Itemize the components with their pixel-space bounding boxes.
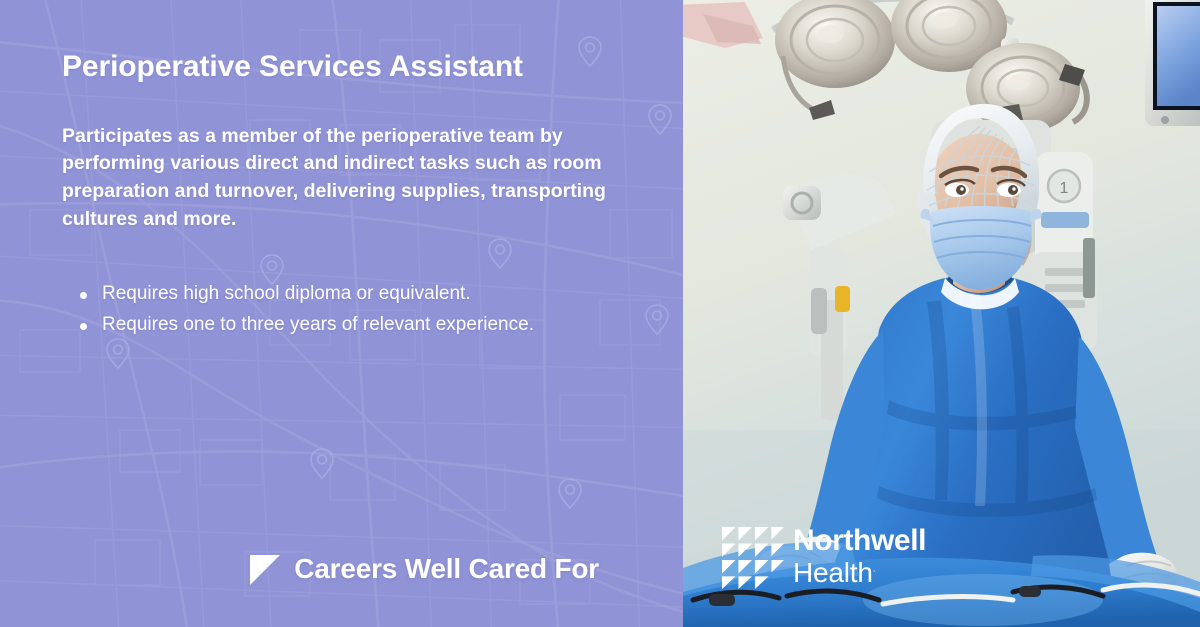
northwell-health-logo: Northwell Health.	[722, 526, 926, 589]
recruitment-ad: Perioperative Services Assistant Partici…	[0, 0, 1200, 627]
requirement-item: Requires one to three years of relevant …	[62, 310, 639, 341]
trademark-icon: .	[873, 564, 876, 575]
operating-room-photo: 1	[683, 0, 1200, 627]
tagline-text: Careers Well Cared For	[294, 553, 599, 585]
info-panel: Perioperative Services Assistant Partici…	[0, 0, 683, 627]
brand-sub-text: Health	[793, 557, 873, 588]
job-summary: Participates as a member of the perioper…	[62, 123, 639, 234]
requirement-item: Requires high school diploma or equivale…	[62, 279, 639, 310]
tagline: Careers Well Cared For	[62, 553, 639, 585]
brand-subname: Health.	[793, 559, 926, 587]
requirements-list: Requires high school diploma or equivale…	[62, 279, 639, 341]
brand-name: Northwell	[793, 526, 926, 556]
triangle-mark-icon	[250, 555, 280, 585]
panel-content: Perioperative Services Assistant Partici…	[0, 0, 683, 627]
svg-text:1: 1	[1060, 180, 1069, 197]
job-title: Perioperative Services Assistant	[62, 50, 639, 85]
northwell-triangles-icon	[722, 527, 784, 589]
brand-wordmark: Northwell Health.	[793, 526, 926, 589]
